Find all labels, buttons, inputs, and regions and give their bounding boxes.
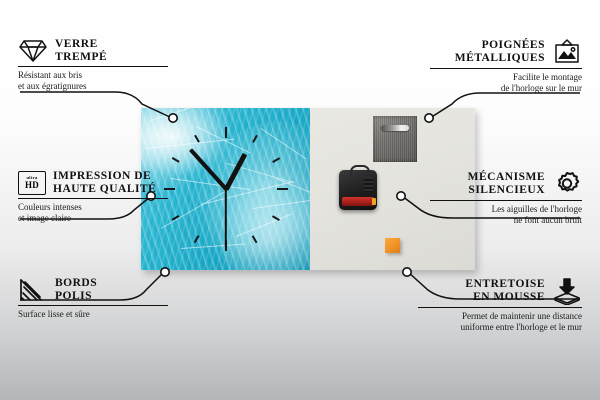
feature-title-line1: VERRE (55, 38, 107, 51)
polished-edge-icon (18, 277, 48, 303)
feature-title-line2: SILENCIEUX (468, 184, 545, 197)
divider (18, 66, 168, 67)
clock-hour-mark (252, 135, 257, 143)
metal-hanger-plate (373, 116, 417, 162)
clock-hour-mark (272, 157, 280, 162)
feature-desc-line2: de l'horloge sur le mur (430, 83, 582, 94)
feature-desc-line2: uniforme entre l'horloge et le mur (418, 322, 582, 333)
clock-hour-mark (194, 135, 199, 143)
divider (430, 68, 582, 69)
foam-spacer (385, 238, 400, 253)
clock-hour-mark (225, 127, 227, 138)
clock-mechanism-box (339, 170, 377, 210)
mechanism-vent (364, 177, 373, 192)
clock-second-hand (225, 189, 227, 247)
feature-title-line1: ENTRETOISE (465, 278, 545, 291)
ultra-hd-icon: ultra HD (18, 171, 46, 195)
feature-desc-line2: et image claire (18, 213, 168, 224)
feature-desc-line1: Permet de maintenir une distance (418, 311, 582, 322)
clock-hour-hand (224, 153, 247, 190)
feature-mecanisme-silencieux: MÉCANISME SILENCIEUX Les aiguilles de l'… (430, 170, 582, 226)
ultra-hd-main-label: HD (25, 181, 39, 190)
feature-impression-haute-qualite: ultra HD IMPRESSION DE HAUTE QUALITÉ Cou… (18, 170, 168, 224)
clock-hour-mark (194, 235, 199, 243)
clock-hour-mark (171, 215, 179, 220)
feature-title-line2: HAUTE QUALITÉ (53, 183, 156, 196)
clock-minute-hand (189, 148, 227, 190)
feature-poignees-metalliques: POIGNÉES MÉTALLIQUES Facilite le montage… (430, 38, 582, 94)
feature-desc-line2: et aux égratignures (18, 81, 168, 92)
infographic-canvas: VERRE TREMPÉ Résistant aux bris et aux é… (0, 0, 600, 400)
feature-title-line2: MÉTALLIQUES (455, 52, 545, 65)
feature-title-line2: TREMPÉ (55, 51, 107, 64)
feature-verre-trempe: VERRE TREMPÉ Résistant aux bris et aux é… (18, 38, 168, 92)
mechanism-hook (350, 165, 370, 176)
feature-title-line1: MÉCANISME (468, 171, 545, 184)
divider (18, 305, 168, 306)
feature-desc-line2: ne font aucun bruit (430, 215, 582, 226)
clock-hour-mark (171, 157, 179, 162)
feature-desc-line1: Facilite le montage (430, 72, 582, 83)
feature-title-line1: IMPRESSION DE (53, 170, 156, 183)
foam-spacer-icon (552, 277, 582, 305)
clock-hour-mark (272, 215, 280, 220)
clock-hour-mark (252, 235, 257, 243)
feature-bords-polis: BORDS POLIS Surface lisse et sûre (18, 277, 168, 320)
gear-icon (552, 170, 582, 198)
feature-desc-line1: Les aiguilles de l'horloge (430, 204, 582, 215)
clock-hour-mark (277, 188, 288, 190)
divider (418, 307, 582, 308)
feature-title-line1: POIGNÉES (455, 39, 545, 52)
diamond-icon (18, 38, 48, 64)
battery (342, 197, 374, 206)
divider (430, 200, 582, 201)
feature-desc-line1: Couleurs intenses (18, 202, 168, 213)
feature-title-line2: EN MOUSSE (465, 291, 545, 304)
hanger-keyhole-slot (381, 125, 409, 131)
feature-title-line1: BORDS (55, 277, 97, 290)
feature-desc-line1: Résistant aux bris (18, 70, 168, 81)
picture-hanger-icon (552, 38, 582, 66)
feature-entretoise-en-mousse: ENTRETOISE EN MOUSSE Permet de maintenir… (418, 277, 582, 333)
product-photo (141, 108, 475, 270)
feature-title-line2: POLIS (55, 290, 97, 303)
feature-desc-line1: Surface lisse et sûre (18, 309, 168, 320)
divider (18, 198, 168, 199)
